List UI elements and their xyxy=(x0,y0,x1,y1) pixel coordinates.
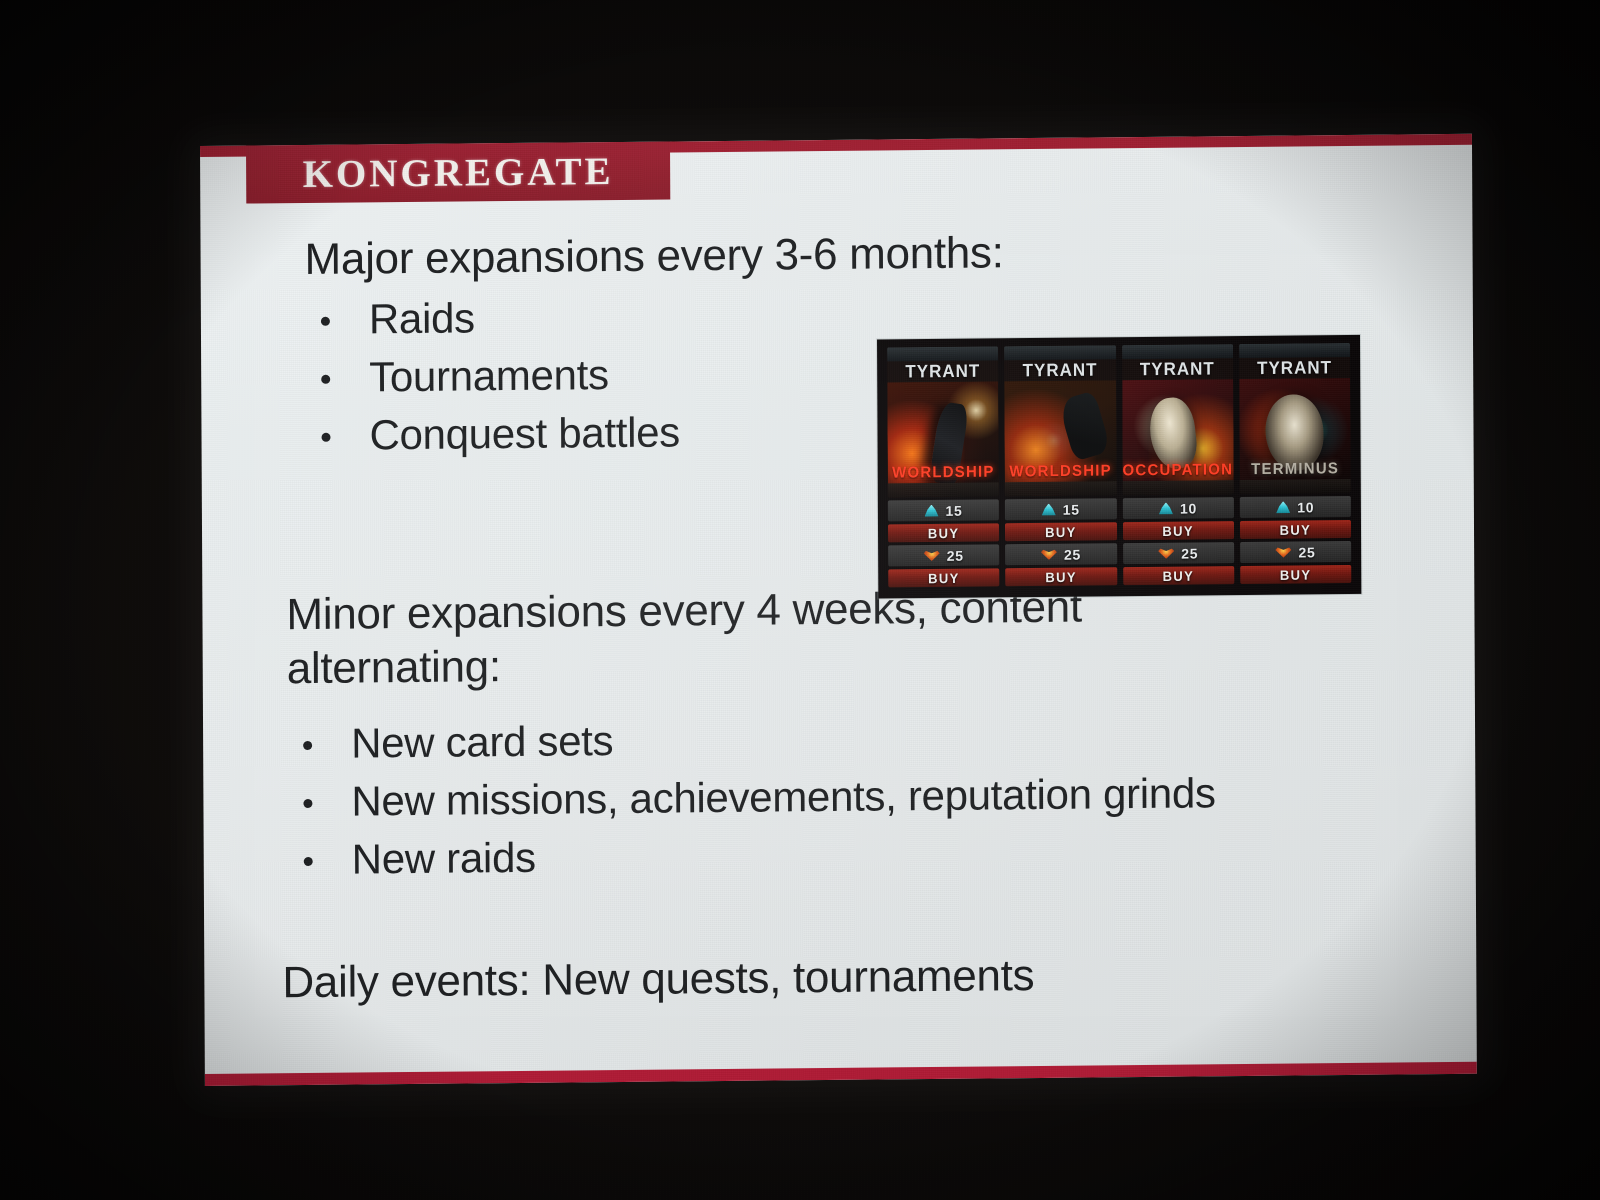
war-bond-icon xyxy=(1158,548,1174,559)
pack-name: WORLDSHIP xyxy=(888,463,999,482)
major-expansions-heading: Major expansions every 3-6 months: xyxy=(304,228,1003,285)
war-bond-icon xyxy=(1041,549,1057,560)
emblem-price: 25 xyxy=(1064,546,1081,562)
buy-label: BUY xyxy=(1045,569,1077,585)
list-item: New missions, achievements, reputation g… xyxy=(287,764,1216,831)
major-expansions-bullets: Raids Tournaments Conquest battles xyxy=(305,287,680,464)
pack-footer-strip xyxy=(888,482,999,497)
list-item: Raids xyxy=(305,287,680,349)
gem-price: 15 xyxy=(1063,501,1080,517)
gem-price: 10 xyxy=(1180,500,1197,516)
projected-slide-photo: KONGREGATE Major expansions every 3-6 mo… xyxy=(0,0,1600,1200)
buy-label: BUY xyxy=(1280,521,1312,537)
pack-header-strip xyxy=(1122,344,1233,359)
card-pack-terminus: TYRANT TERMINUS 10 BUY 25 xyxy=(1239,343,1352,587)
pack-name: TERMINUS xyxy=(1239,460,1350,479)
slide-body: Major expansions every 3-6 months: Raids… xyxy=(200,192,1476,1074)
buy-button-emblem[interactable]: BUY xyxy=(1005,567,1116,586)
buy-label: BUY xyxy=(1162,523,1194,539)
gem-price-row: 15 xyxy=(888,499,999,521)
buy-label: BUY xyxy=(928,570,960,586)
pack-footer-strip xyxy=(1005,481,1116,496)
emblem-price-row: 25 xyxy=(1123,542,1234,564)
emblem-price: 25 xyxy=(1298,544,1315,560)
list-item: Conquest battles xyxy=(305,403,680,465)
buy-button-emblem[interactable]: BUY xyxy=(888,568,999,587)
list-item: Tournaments xyxy=(305,345,680,407)
pack-name: OCCUPATION xyxy=(1122,461,1233,480)
pack-footer-strip xyxy=(1240,479,1351,494)
pack-artwork: TYRANT WORLDSHIP xyxy=(887,346,999,497)
tyrant-logo: TYRANT xyxy=(1023,360,1098,382)
pack-artwork: TYRANT WORLDSHIP xyxy=(1004,345,1116,496)
emblem-price-row: 25 xyxy=(888,544,999,566)
card-pack-worldship-1: TYRANT WORLDSHIP 15 BUY 25 xyxy=(887,346,1000,590)
pack-header-strip xyxy=(1239,343,1350,358)
list-item: New raids xyxy=(288,822,1217,889)
emblem-price: 25 xyxy=(947,547,964,563)
emblem-price-row: 25 xyxy=(1240,541,1351,563)
buy-label: BUY xyxy=(1045,524,1077,540)
gem-price: 15 xyxy=(945,502,962,518)
buy-button-gem[interactable]: BUY xyxy=(1240,520,1351,539)
gem-price: 10 xyxy=(1297,499,1314,515)
pack-footer-strip xyxy=(1122,480,1233,495)
card-pack-worldship-2: TYRANT WORLDSHIP 15 BUY 25 xyxy=(1004,345,1117,589)
daily-events-line: Daily events: New quests, tournaments xyxy=(282,951,1034,1008)
tyrant-logo: TYRANT xyxy=(1257,358,1332,380)
buy-button-gem[interactable]: BUY xyxy=(888,523,999,542)
pack-name: WORLDSHIP xyxy=(1005,462,1116,481)
minor-expansions-heading: Minor expansions every 4 weeks, content … xyxy=(286,580,1167,696)
list-item: New card sets xyxy=(287,706,1216,773)
gem-icon xyxy=(924,504,938,516)
pack-header-strip xyxy=(1004,345,1115,360)
war-bond-icon xyxy=(924,550,940,561)
buy-button-gem[interactable]: BUY xyxy=(1005,522,1116,541)
buy-label: BUY xyxy=(928,525,960,541)
pack-artwork: TYRANT TERMINUS xyxy=(1239,343,1351,494)
banner-title: KONGREGATE xyxy=(303,149,614,197)
gem-price-row: 10 xyxy=(1122,497,1233,519)
tyrant-store-screenshot: TYRANT WORLDSHIP 15 BUY 25 xyxy=(877,335,1361,599)
gem-price-row: 15 xyxy=(1005,498,1116,520)
kongregate-banner: KONGREGATE xyxy=(246,141,670,203)
tyrant-logo: TYRANT xyxy=(1140,359,1215,381)
minor-expansions-bullets: New card sets New missions, achievements… xyxy=(287,706,1216,889)
gem-icon xyxy=(1159,502,1173,514)
presentation-slide: KONGREGATE Major expansions every 3-6 mo… xyxy=(200,134,1477,1086)
buy-button-emblem[interactable]: BUY xyxy=(1240,565,1351,584)
tyrant-logo: TYRANT xyxy=(905,361,980,383)
gem-price-row: 10 xyxy=(1240,496,1351,518)
buy-label: BUY xyxy=(1163,568,1195,584)
buy-button-emblem[interactable]: BUY xyxy=(1123,566,1234,585)
gem-icon xyxy=(1276,501,1290,513)
emblem-price-row: 25 xyxy=(1005,543,1116,565)
gem-icon xyxy=(1042,503,1056,515)
pack-artwork: TYRANT OCCUPATION xyxy=(1122,344,1234,495)
pack-header-strip xyxy=(887,346,998,361)
buy-button-gem[interactable]: BUY xyxy=(1122,521,1233,540)
card-pack-occupation: TYRANT OCCUPATION 10 BUY 25 xyxy=(1122,344,1235,588)
buy-label: BUY xyxy=(1280,566,1312,582)
war-bond-icon xyxy=(1275,547,1291,558)
emblem-price: 25 xyxy=(1181,545,1198,561)
